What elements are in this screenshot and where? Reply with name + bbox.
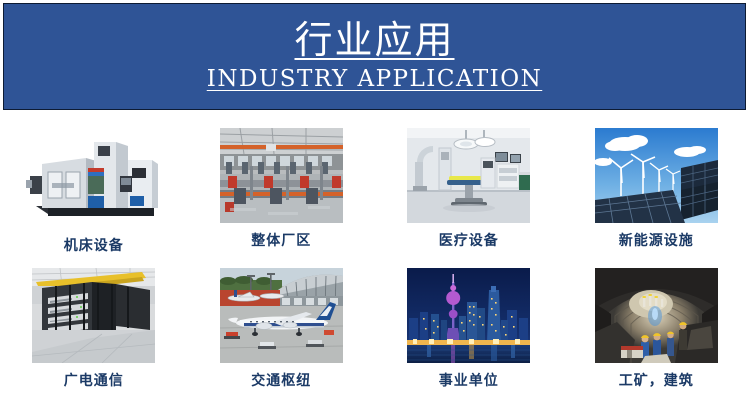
grid-cell-medical-equipment[interactable]: 医疗设备 bbox=[375, 118, 563, 258]
grid-cell-transport-hub[interactable]: 交通枢纽 bbox=[188, 258, 376, 398]
grid-cell-label: 交通枢纽 bbox=[251, 374, 311, 388]
cnc-machine-tool-photo bbox=[24, 128, 164, 228]
page-title: 行业应用 bbox=[294, 21, 454, 61]
wind-turbine-solar-panel-photo bbox=[595, 128, 718, 223]
page-banner: 行业应用 INDUSTRY APPLICATION bbox=[3, 3, 746, 110]
grid-cell-broadcast-communication[interactable]: 广电通信 bbox=[0, 258, 188, 398]
grid-cell-public-institution[interactable]: 事业单位 bbox=[375, 258, 563, 398]
page-subtitle: INDUSTRY APPLICATION bbox=[207, 67, 543, 92]
grid-cell-mining-construction[interactable]: 工矿，建筑 bbox=[563, 258, 750, 398]
server-rack-data-center-photo bbox=[32, 268, 155, 363]
factory-workshop-photo bbox=[220, 128, 343, 223]
grid-cell-label: 机床设备 bbox=[64, 239, 124, 253]
operating-room-medical-equipment-photo bbox=[407, 128, 530, 223]
grid-cell-label: 工矿，建筑 bbox=[619, 374, 694, 388]
grid-cell-label: 新能源设施 bbox=[619, 234, 694, 248]
tunnel-construction-workers-photo bbox=[595, 268, 718, 363]
grid-cell-label: 广电通信 bbox=[64, 374, 124, 388]
grid-cell-label: 医疗设备 bbox=[439, 234, 499, 248]
industry-application-grid: 机床设备 bbox=[0, 118, 750, 418]
grid-cell-label: 事业单位 bbox=[439, 374, 499, 388]
city-skyline-night-photo bbox=[407, 268, 530, 363]
grid-cell-label: 整体厂区 bbox=[251, 234, 311, 248]
airport-terminal-aircraft-photo bbox=[220, 268, 343, 363]
grid-cell-machine-tools[interactable]: 机床设备 bbox=[0, 118, 188, 258]
grid-cell-new-energy[interactable]: 新能源设施 bbox=[563, 118, 750, 258]
grid-cell-whole-plant[interactable]: 整体厂区 bbox=[188, 118, 376, 258]
